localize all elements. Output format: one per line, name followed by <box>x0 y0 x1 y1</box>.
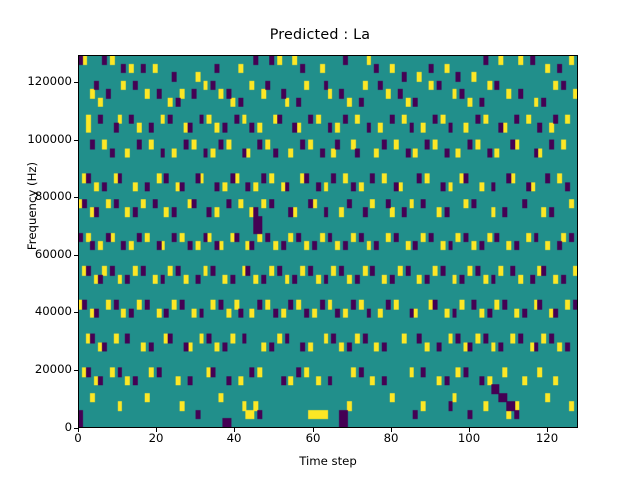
y-tick-60000 <box>74 255 78 256</box>
y-tick-120000 <box>74 82 78 83</box>
x-tick-label-80: 80 <box>351 433 431 445</box>
x-tick-label-0: 0 <box>38 433 118 445</box>
y-tick-label-20000: 20000 <box>0 364 72 376</box>
y-tick-40000 <box>74 312 78 313</box>
heatmap-image <box>79 56 577 427</box>
x-tick-label-40: 40 <box>194 433 274 445</box>
x-tick-label-100: 100 <box>429 433 509 445</box>
y-tick-100000 <box>74 140 78 141</box>
x-tick-label-20: 20 <box>116 433 196 445</box>
y-tick-20000 <box>74 370 78 371</box>
plot-title: Predicted : La <box>0 27 640 43</box>
x-axis-title: Time step <box>78 454 578 468</box>
x-tick-label-120: 120 <box>507 433 587 445</box>
heatmap-axes <box>78 55 578 428</box>
y-axis-title: Frequency (Hz) <box>25 86 39 326</box>
y-tick-80000 <box>74 197 78 198</box>
y-tick-label-0: 0 <box>0 422 72 434</box>
figure-canvas: Predicted : La 0 20000 40000 60000 80000… <box>0 0 640 480</box>
x-tick-label-60: 60 <box>273 433 353 445</box>
